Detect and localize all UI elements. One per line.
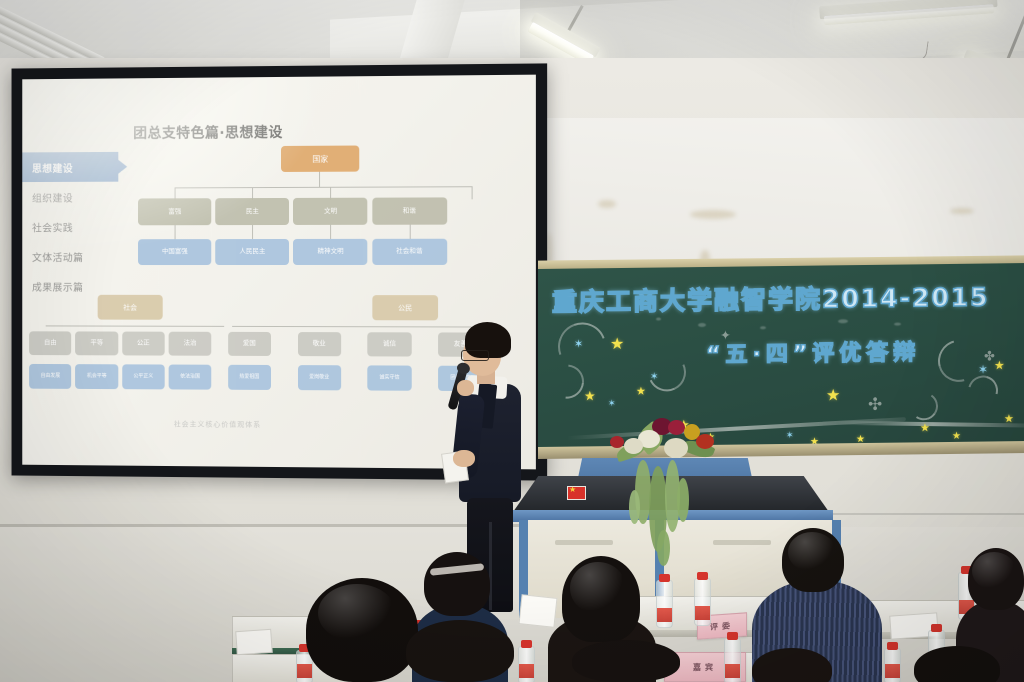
diagram-node-nation-l2-3: 精神文明 xyxy=(293,239,367,265)
slide-nav-item-1: 思想建设 xyxy=(22,152,118,182)
diagram-node-nation-l1-3: 文明 xyxy=(293,198,367,226)
bottle-cap xyxy=(659,574,670,582)
flower-white xyxy=(624,438,643,454)
star-icon: ✶ xyxy=(574,338,583,349)
chalk-dust xyxy=(760,326,766,329)
diagram-node-society-l1-1: 自由 xyxy=(29,331,71,355)
flower-red xyxy=(668,420,685,435)
water-bottle xyxy=(694,578,711,626)
wall-stain xyxy=(950,208,974,214)
star-icon: ★ xyxy=(584,390,596,403)
flower-red xyxy=(610,436,624,448)
slide-title: 团总支特色篇·思想建设 xyxy=(133,122,283,143)
diagram-node-citizen-l1-3: 诚信 xyxy=(368,332,412,357)
diagram-node-society-l1-3: 公正 xyxy=(122,331,165,355)
star-icon: ★ xyxy=(920,422,930,433)
paper-sheet xyxy=(235,629,273,655)
diagram-node-citizen-l1-1: 爱国 xyxy=(228,332,271,356)
presenter-hand-holding-mic xyxy=(457,380,474,396)
diagram-node-society-l2-3: 公平正义 xyxy=(122,365,165,389)
diagram-node-society-l1-4: 法治 xyxy=(169,332,212,356)
chalk-dust xyxy=(894,323,901,326)
presenter-leg-seam xyxy=(489,522,492,610)
connector xyxy=(175,226,176,240)
flower-white xyxy=(664,438,688,458)
wall-stain xyxy=(690,210,736,219)
star-icon: ★ xyxy=(1004,413,1014,424)
hanging-greenery xyxy=(625,460,695,565)
bottle-cap xyxy=(887,642,898,650)
chalk-swirl-icon xyxy=(908,390,940,423)
connector xyxy=(175,187,472,189)
bottle-cap xyxy=(697,572,708,580)
diagram-node-nation-l2-2: 人民民主 xyxy=(216,239,290,265)
flower-red xyxy=(696,434,714,449)
blackboard-title-line1: 重庆工商大学融智学院2014-2015 xyxy=(552,277,990,318)
bottle-cap xyxy=(931,624,942,632)
diagram-node-nation-l1-1: 富强 xyxy=(138,198,211,225)
star-icon: ★ xyxy=(636,386,646,397)
diagram-node-root-society: 社会 xyxy=(98,295,163,319)
diagram-node-root-nation: 国家 xyxy=(281,146,359,172)
chalk-vine xyxy=(838,421,1024,428)
slide-nav-item-2: 组织建设 xyxy=(22,182,118,212)
diagram-node-citizen-l1-2: 敬业 xyxy=(298,332,341,357)
diagram-node-citizen-l2-1: 热爱祖国 xyxy=(228,365,271,390)
hair-highlight xyxy=(318,584,396,642)
diagram-node-society-l2-1: 自由发展 xyxy=(29,364,71,388)
water-bottle xyxy=(884,648,901,682)
butterfly-icon: ✣ xyxy=(868,395,882,415)
star-icon: ★ xyxy=(994,359,1005,371)
diagram-node-nation-l1-2: 民主 xyxy=(216,198,290,226)
connector xyxy=(409,225,410,239)
bottle-label xyxy=(695,606,710,620)
china-flag-icon xyxy=(567,486,586,500)
star-icon: ✶ xyxy=(978,363,988,375)
chalk-dust xyxy=(656,317,661,320)
bottle-label xyxy=(885,664,900,678)
podium-panel-detail xyxy=(713,540,771,545)
glasses-icon xyxy=(461,350,489,361)
star-icon: ✶ xyxy=(650,373,658,383)
wall-stain xyxy=(598,200,616,208)
connector xyxy=(319,172,320,187)
bottle-cap xyxy=(521,640,532,648)
diagram-node-society-l2-2: 机会平等 xyxy=(76,364,118,388)
connector xyxy=(232,326,472,328)
slide-footer-caption: 社会主义核心价值观体系 xyxy=(174,419,261,430)
star-icon: ★ xyxy=(952,432,961,442)
connector xyxy=(45,325,223,326)
chalk-dust xyxy=(838,319,848,323)
star-icon: ✶ xyxy=(786,432,794,441)
diagram-node-citizen-l2-3: 诚实守信 xyxy=(368,366,412,391)
diagram-node-society-l2-4: 依法治国 xyxy=(169,365,212,389)
diagram-node-nation-l1-4: 和谐 xyxy=(372,197,447,225)
water-bottle xyxy=(518,646,535,682)
water-bottle xyxy=(656,580,673,628)
diagram-node-root-citizen: 公民 xyxy=(372,295,439,320)
bottle-label xyxy=(297,664,312,678)
hair-highlight xyxy=(972,552,1016,590)
blackboard-title-line2: “五·四”评优答辩 xyxy=(706,334,920,369)
butterfly-icon: ✦ xyxy=(720,329,731,344)
podium-panel-detail xyxy=(555,540,613,545)
bottle-label xyxy=(519,664,534,678)
hair-highlight xyxy=(570,562,626,614)
ceiling-conduit-pipes xyxy=(0,0,110,64)
slide-nav-item-3: 社会实践 xyxy=(22,212,118,242)
water-bottle xyxy=(724,638,741,682)
slide-sidebar-nav: 思想建设 组织建设 社会实践 文体活动篇 成果展示篇 xyxy=(22,152,118,301)
bottle-label xyxy=(725,664,740,678)
diagram-node-citizen-l2-2: 爱岗敬业 xyxy=(298,365,341,390)
hair-highlight xyxy=(788,532,836,572)
bottle-label xyxy=(657,608,672,622)
star-icon: ★ xyxy=(610,336,624,352)
star-icon: ✶ xyxy=(608,400,616,409)
paper-sheet xyxy=(519,594,558,628)
star-icon: ★ xyxy=(826,387,840,403)
slide-nav-item-4: 文体活动篇 xyxy=(22,241,118,271)
bottle-cap xyxy=(727,632,738,640)
diagram-node-society-l1-2: 平等 xyxy=(76,331,118,355)
connector xyxy=(331,225,332,239)
diagram-node-nation-l2-1: 中国富强 xyxy=(138,239,211,265)
connector xyxy=(252,225,253,239)
connector xyxy=(472,187,473,199)
classroom-presentation-photo: 团总支特色篇·思想建设 思想建设 组织建设 社会实践 文体活动篇 成果展示篇 国… xyxy=(0,0,1024,682)
audience-member-head xyxy=(424,552,490,616)
presenter-hand-lower xyxy=(453,450,475,467)
chalk-dust xyxy=(698,323,706,327)
audience-member-head-foreground xyxy=(572,640,680,682)
audience-member-head-foreground xyxy=(406,620,514,682)
diagram-node-nation-l2-4: 社会和谐 xyxy=(372,239,447,265)
